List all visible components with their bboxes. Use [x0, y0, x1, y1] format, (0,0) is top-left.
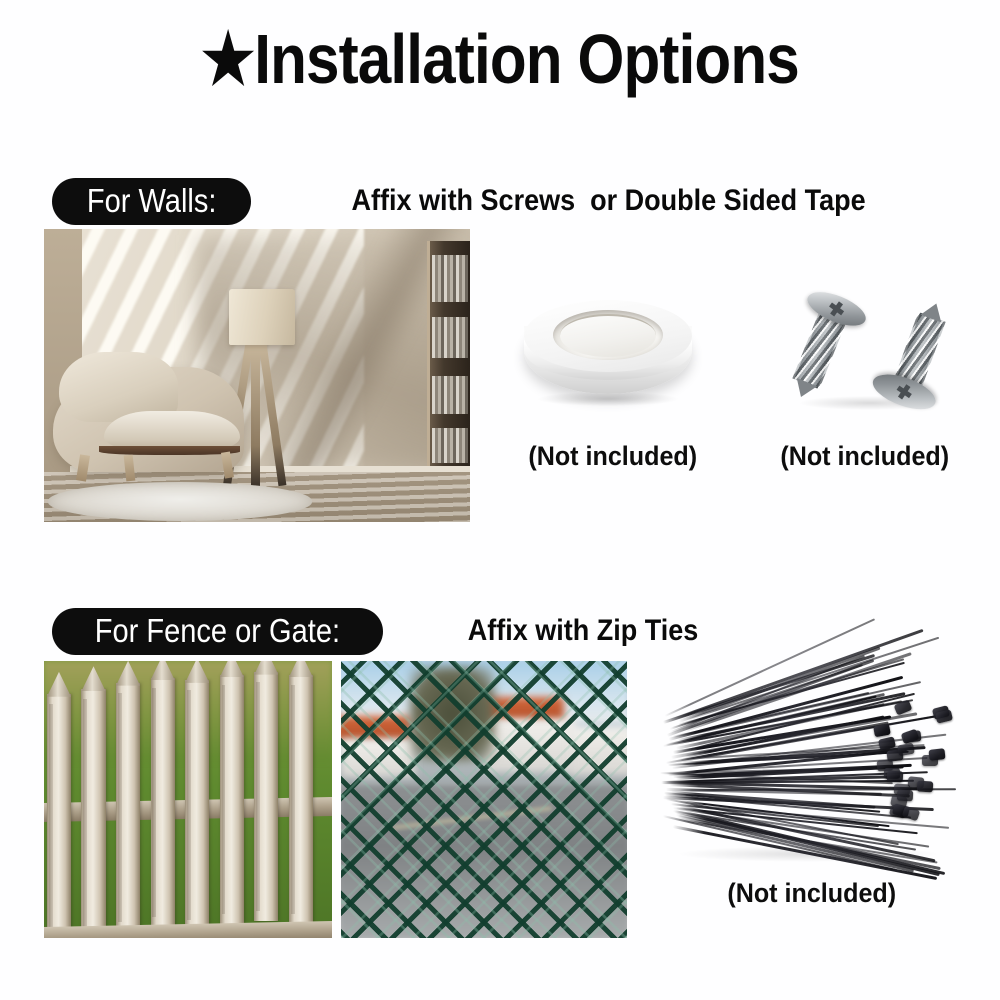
zip-tie-head — [873, 723, 891, 737]
pk-picket — [254, 672, 278, 921]
double-sided-tape-image — [524, 300, 692, 408]
tape-ground-shadow — [538, 392, 678, 406]
zip-ties-ground-shadow — [676, 846, 940, 862]
screws-image — [780, 296, 960, 412]
zip-tie-head — [886, 771, 903, 783]
screws-not-included-caption: (Not included) — [715, 441, 1000, 472]
pk-picket — [81, 689, 105, 938]
zip-tie-heads — [870, 704, 962, 822]
pk-picket — [220, 675, 244, 924]
cl-wire-mesh-highlight — [341, 661, 627, 938]
lr-books — [432, 255, 468, 302]
pk-picket — [47, 694, 71, 938]
zip-tie-head — [916, 781, 933, 793]
lr-lamp-leg — [251, 340, 260, 487]
pk-picket — [116, 683, 140, 932]
lr-books — [432, 317, 468, 358]
chain-link-fence-photo — [341, 661, 627, 938]
page-title: ★Installation Options — [70, 20, 930, 98]
fence-pill-label: For Fence or Gate: — [95, 612, 340, 650]
zip-tie-head — [935, 710, 953, 724]
fence-pill-badge: For Fence or Gate: — [52, 608, 383, 655]
pk-picket — [185, 680, 209, 929]
walls-pill-badge: For Walls: — [52, 178, 251, 225]
zip-ties-image — [668, 700, 958, 860]
zip-tie-head — [878, 737, 896, 751]
zip-tie-head — [922, 755, 938, 766]
living-room-photo — [44, 229, 470, 522]
lr-lamp-shade — [229, 289, 295, 345]
zip-tie-head — [904, 730, 921, 743]
zipties-not-included-caption: (Not included) — [662, 878, 962, 909]
zip-tie-head — [901, 806, 920, 822]
picket-fence-photo — [44, 661, 332, 938]
infographic-page: ★Installation Options For Walls: Affix w… — [0, 0, 1000, 1000]
lr-armchair-wood-rail — [99, 446, 240, 455]
tape-core-inner — [560, 314, 656, 357]
lr-rug — [48, 482, 312, 520]
lr-books — [432, 376, 468, 414]
walls-pill-label: For Walls: — [87, 182, 217, 220]
pk-picket — [289, 675, 313, 924]
pk-picket — [151, 678, 175, 927]
